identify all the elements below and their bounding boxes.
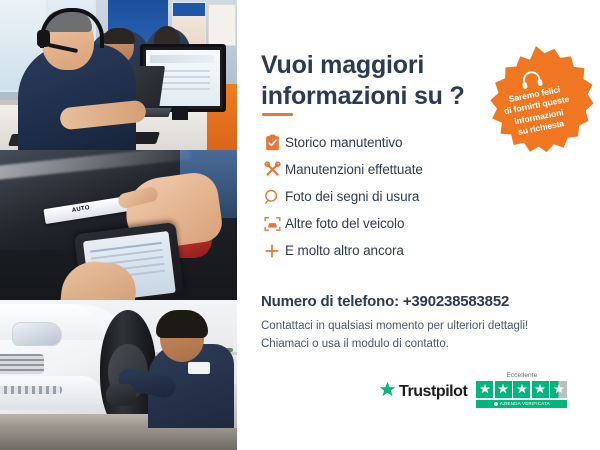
mechanic-hair <box>156 310 208 338</box>
verified-business-badge: AZIENDA VERIFICATA <box>476 400 567 408</box>
magnifier-icon <box>259 189 285 205</box>
page-title: Vuoi maggioriinformazioni su ? <box>261 50 476 113</box>
benefit-label: E molto altro ancora <box>285 243 404 258</box>
strip-brand-label: AUTO <box>72 205 91 214</box>
benefit-label: Manutenzioni effettuate <box>285 162 423 177</box>
wall-poster-decor-2 <box>208 4 236 46</box>
photo-strip: AUTO <box>0 0 237 450</box>
background-colleague-hair <box>103 28 135 44</box>
contact-description-line-2: Chiamaci o usa il modulo di contatto. <box>261 338 449 350</box>
title-divider <box>262 113 293 116</box>
call-center-photo <box>0 0 237 150</box>
mechanic-glove <box>106 384 136 406</box>
mechanic-uniform-logo <box>188 362 210 374</box>
white-car-grille <box>0 354 44 374</box>
trustpilot-logo: Trustpilot <box>379 381 467 403</box>
monitor-stand-decor <box>172 106 188 120</box>
trustpilot-star-icon <box>379 381 396 403</box>
star-filled-icon <box>476 381 493 398</box>
white-car-bumper <box>0 376 102 410</box>
mechanic-wheel-photo <box>0 300 237 450</box>
phone-number[interactable]: +390238583852 <box>403 293 509 310</box>
verified-check-icon <box>494 402 498 406</box>
contact-description: Contattaci in qualsiasi momento per ulte… <box>261 318 561 354</box>
verified-business-label: AZIENDA VERIFICATA <box>500 401 550 406</box>
page-title-line-1: Vuoi maggiori <box>261 51 424 79</box>
page-title-line-2: informazioni su ? <box>261 82 465 110</box>
trustpilot-rating[interactable]: Trustpilot Eccellente <box>379 372 567 408</box>
trustpilot-stars <box>476 381 567 398</box>
trustpilot-score-block: Eccellente <box>476 372 567 408</box>
contact-description-line-1: Contattaci in qualsiasi momento per ulte… <box>261 320 528 332</box>
vehicle-inspection-photo: AUTO <box>0 150 237 300</box>
benefit-item-altre-foto-veicolo: Altre foto del veicolo <box>259 210 509 237</box>
tools-cross-icon <box>259 161 285 178</box>
car-scan-icon <box>259 216 285 232</box>
phone-label: Numero di telefono: <box>261 293 399 310</box>
benefit-item-manutenzioni-effettuate: Manutenzioni effettuate <box>259 156 509 183</box>
phone-line: Numero di telefono: +390238583852 <box>261 293 509 310</box>
benefit-item-molto-altro: E molto altro ancora <box>259 237 509 264</box>
benefit-label: Foto dei segni di usura <box>285 189 419 204</box>
benefit-label: Storico manutentivo <box>285 135 402 150</box>
white-car-headlight <box>12 322 62 346</box>
content-panel: Vuoi maggioriinformazioni su ? Saremo fe… <box>237 0 600 450</box>
garage-floor-decor <box>0 428 237 450</box>
trustpilot-rating-label: Eccellente <box>506 372 537 379</box>
star-filled-icon <box>513 381 530 398</box>
clipboard-check-icon <box>259 134 285 151</box>
trustpilot-wordmark: Trustpilot <box>399 383 467 401</box>
benefits-list: Storico manutentivo Manutenzioni effettu… <box>259 129 509 264</box>
benefit-item-foto-segni-usura: Foto dei segni di usura <box>259 183 509 210</box>
star-half-icon <box>550 381 567 398</box>
plus-icon <box>259 243 285 259</box>
promo-card: AUTO Vu <box>0 0 600 450</box>
benefit-item-storico-manutentivo: Storico manutentivo <box>259 129 509 156</box>
star-filled-icon <box>532 381 549 398</box>
star-filled-icon <box>495 381 512 398</box>
benefit-label: Altre foto del veicolo <box>285 216 404 231</box>
